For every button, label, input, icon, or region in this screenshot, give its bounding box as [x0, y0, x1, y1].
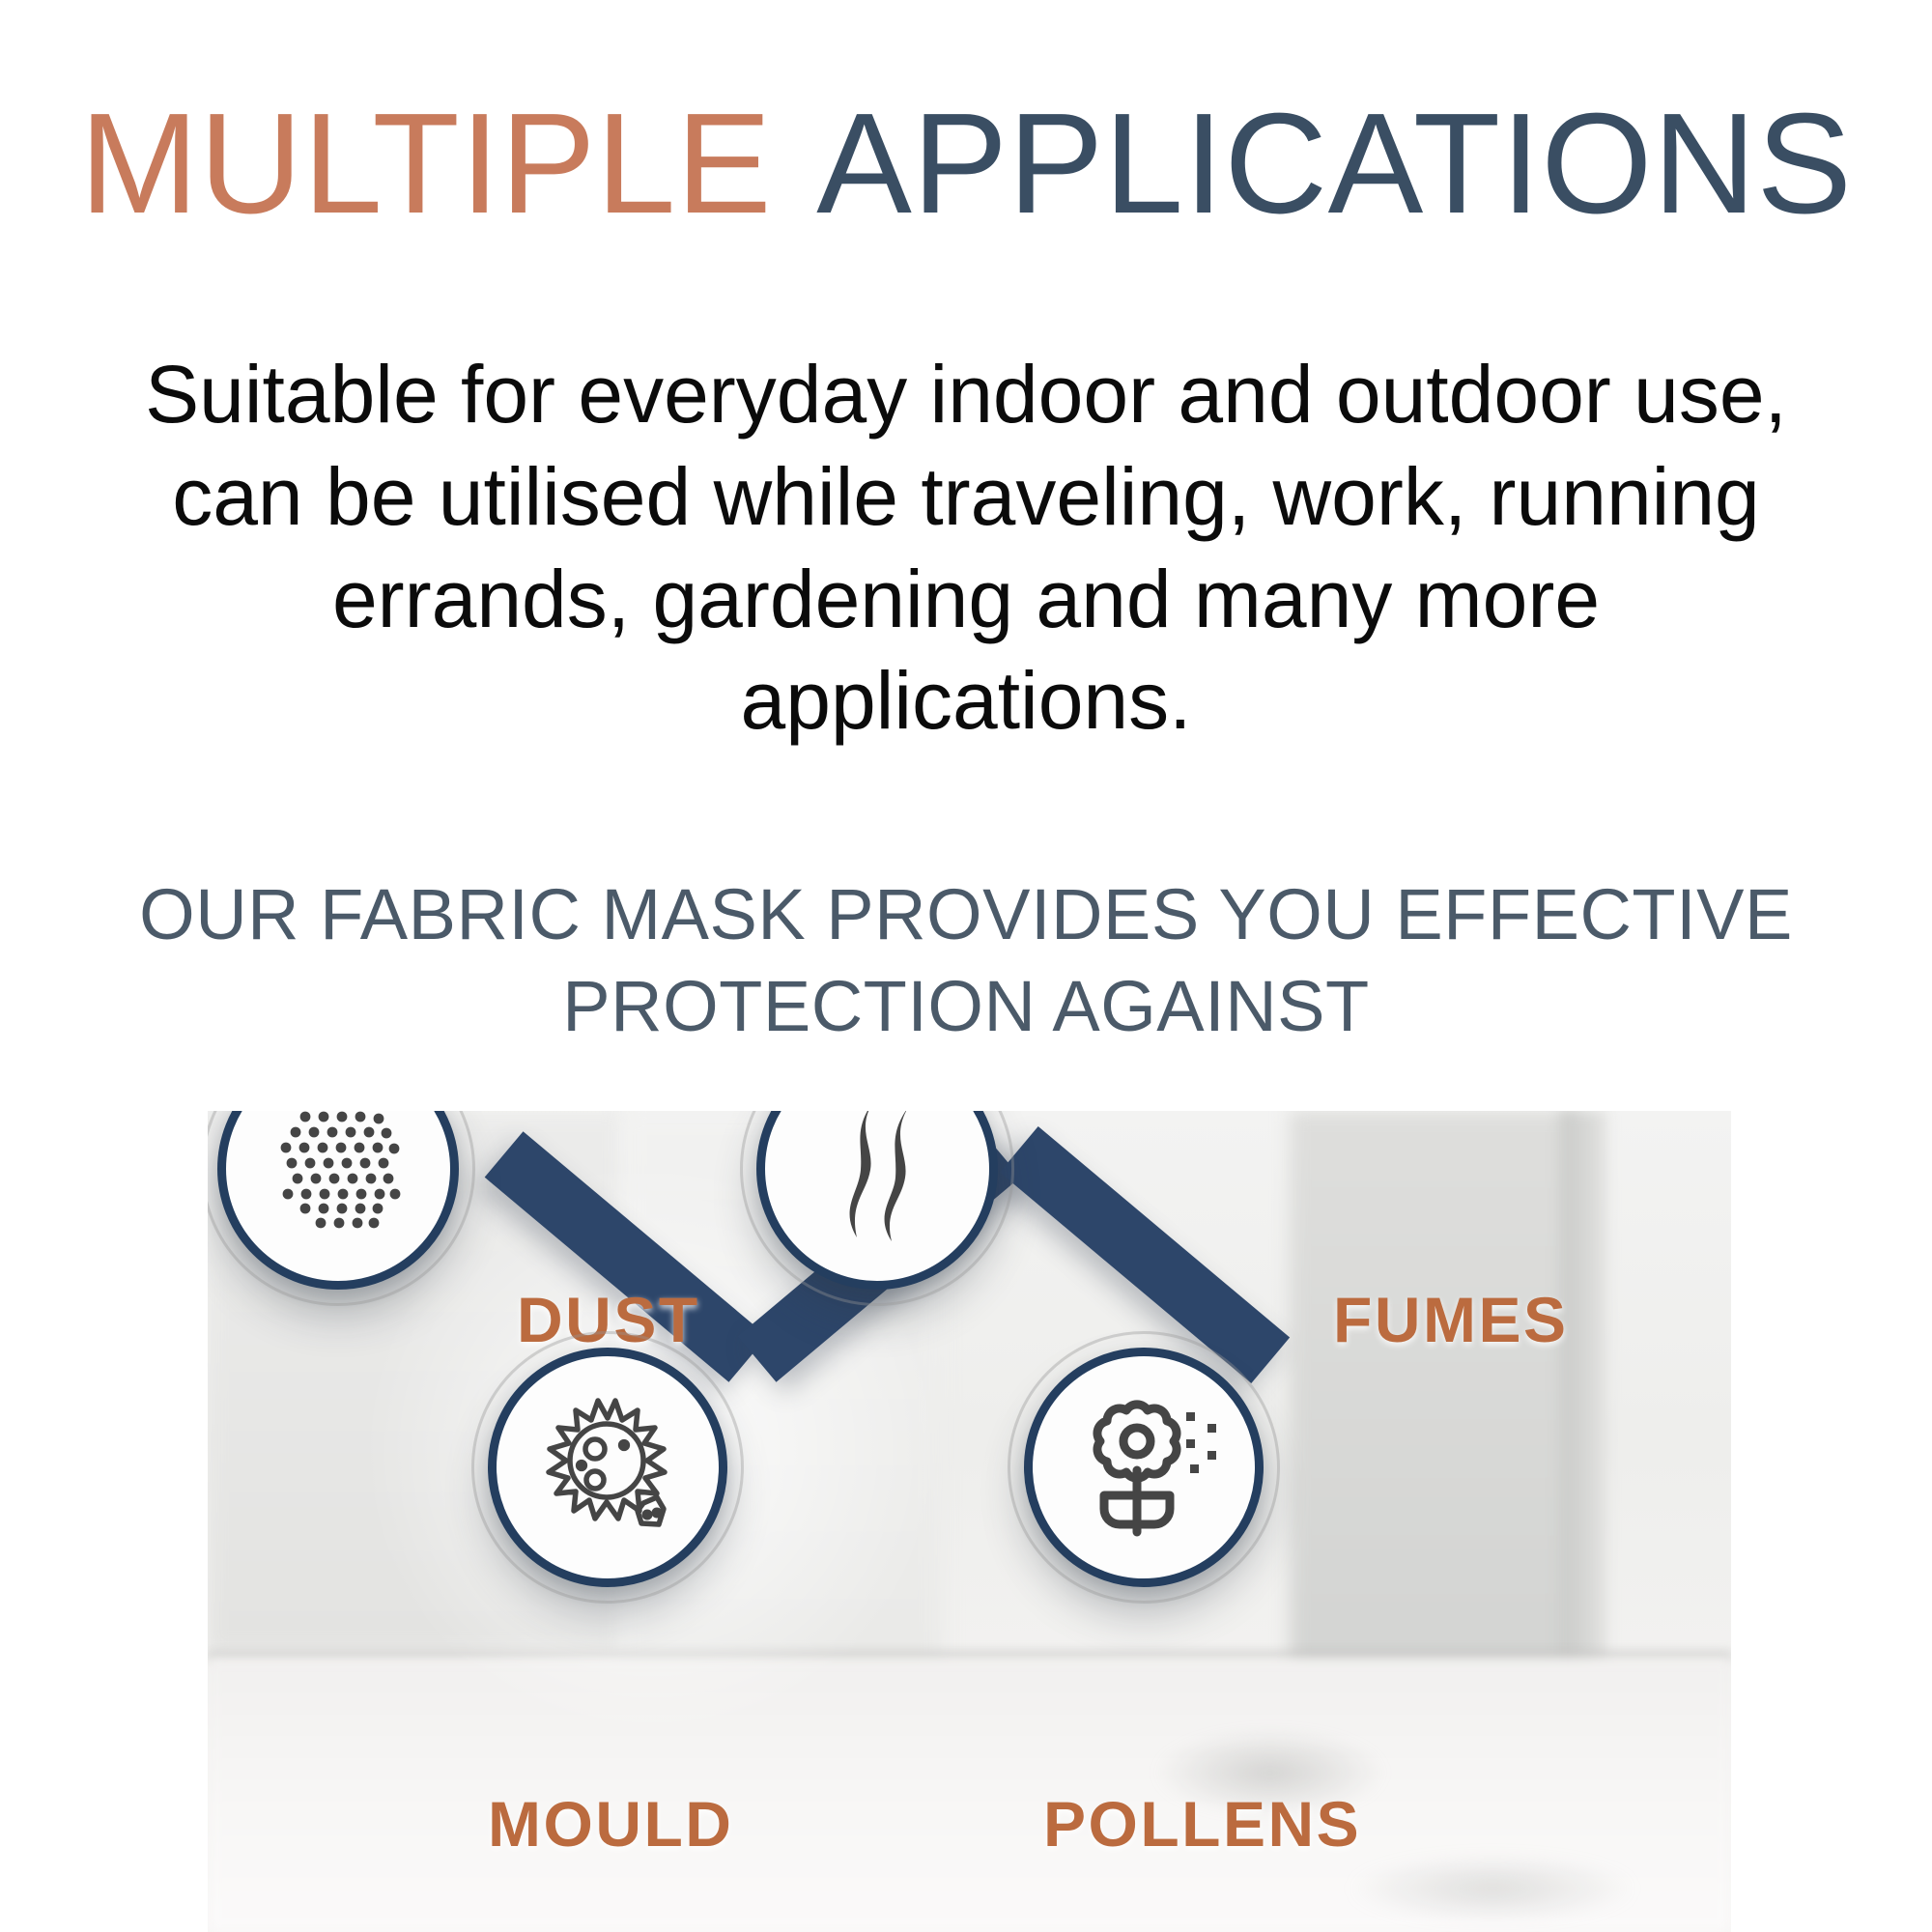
page-title-primary: MULTIPLE	[79, 84, 772, 243]
node-label-pollens: POLLENS	[1043, 1787, 1361, 1861]
background-door	[1290, 1111, 1579, 1690]
node-pollens[interactable]	[1024, 1348, 1264, 1587]
poster-root: MULTIPLEAPPLICATIONS Suitable for everyd…	[0, 0, 1932, 1932]
smoke-fumes-icon	[820, 1111, 934, 1241]
dust-dots-icon	[270, 1111, 406, 1236]
diagram-photo-panel: DUST FUMES	[208, 1111, 1731, 1932]
page-title-secondary: APPLICATIONS	[816, 84, 1852, 243]
node-mould[interactable]	[488, 1348, 727, 1587]
microbe-spore-icon	[535, 1395, 680, 1540]
flower-pollen-icon	[1066, 1395, 1221, 1540]
node-label-mould: MOULD	[488, 1787, 733, 1861]
node-label-fumes: FUMES	[1333, 1283, 1569, 1356]
node-label-dust: DUST	[517, 1283, 700, 1356]
background-door-edge	[1560, 1111, 1606, 1700]
page-title: MULTIPLEAPPLICATIONS	[0, 93, 1932, 236]
description-paragraph: Suitable for everyday indoor and outdoor…	[104, 344, 1828, 753]
background-marble-vein-b	[1348, 1855, 1637, 1922]
protection-subheading: OUR FABRIC MASK PROVIDES YOU EFFECTIVE P…	[77, 869, 1855, 1052]
